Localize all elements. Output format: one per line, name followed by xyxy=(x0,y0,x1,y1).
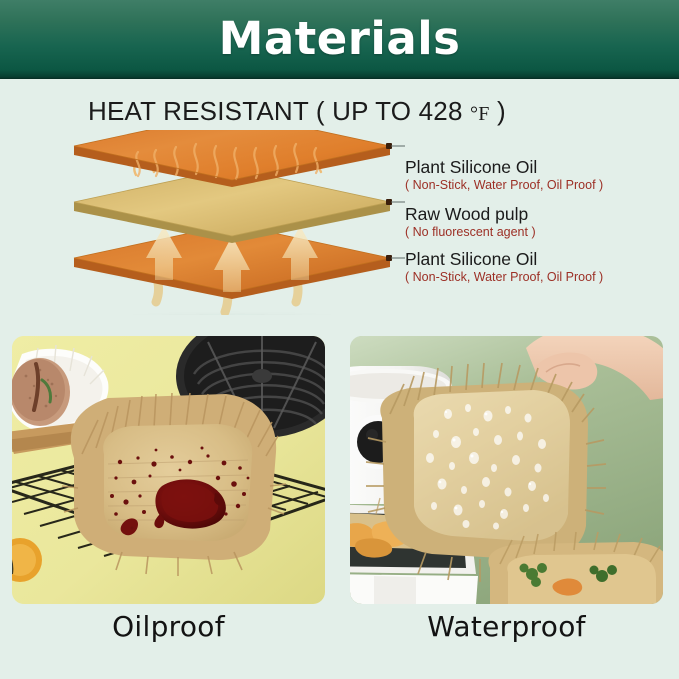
material-layer-diagram xyxy=(60,130,400,310)
infographic-page: Materials HEAT RESISTANT ( UP TO 428 °F … xyxy=(0,0,679,679)
oilproof-photo xyxy=(12,336,325,604)
waterproof-photo xyxy=(350,336,663,604)
layer-label-top-title: Plant Silicone Oil xyxy=(405,158,603,177)
layer-label-middle-subtitle: ( No fluorescent agent ) xyxy=(405,225,536,239)
heat-resistant-headline: HEAT RESISTANT ( UP TO 428 °F ) xyxy=(88,96,506,127)
layer-label-middle: Raw Wood pulp ( No fluorescent agent ) xyxy=(405,205,536,239)
caption-waterproof: Waterproof xyxy=(350,610,663,643)
page-title: Materials xyxy=(219,16,461,61)
heat-text-before: HEAT RESISTANT ( UP TO 428 xyxy=(88,96,470,126)
leader-lines xyxy=(391,146,405,258)
layer-label-bottom-title: Plant Silicone Oil xyxy=(405,250,603,269)
layer-label-bottom-subtitle: ( Non-Stick, Water Proof, Oil Proof ) xyxy=(405,270,603,284)
layer-label-bottom: Plant Silicone Oil ( Non-Stick, Water Pr… xyxy=(405,250,603,284)
header-banner: Materials xyxy=(0,0,679,79)
caption-oilproof: Oilproof xyxy=(12,610,325,643)
photo-card-waterproof xyxy=(350,336,663,604)
photo-card-oilproof xyxy=(12,336,325,604)
layer-top xyxy=(74,130,392,187)
layer-label-top: Plant Silicone Oil ( Non-Stick, Water Pr… xyxy=(405,158,603,192)
layer-label-top-subtitle: ( Non-Stick, Water Proof, Oil Proof ) xyxy=(405,178,603,192)
heat-text-after: ) xyxy=(490,96,506,126)
layer-label-middle-title: Raw Wood pulp xyxy=(405,205,536,224)
degree-fahrenheit-symbol: °F xyxy=(470,103,490,125)
